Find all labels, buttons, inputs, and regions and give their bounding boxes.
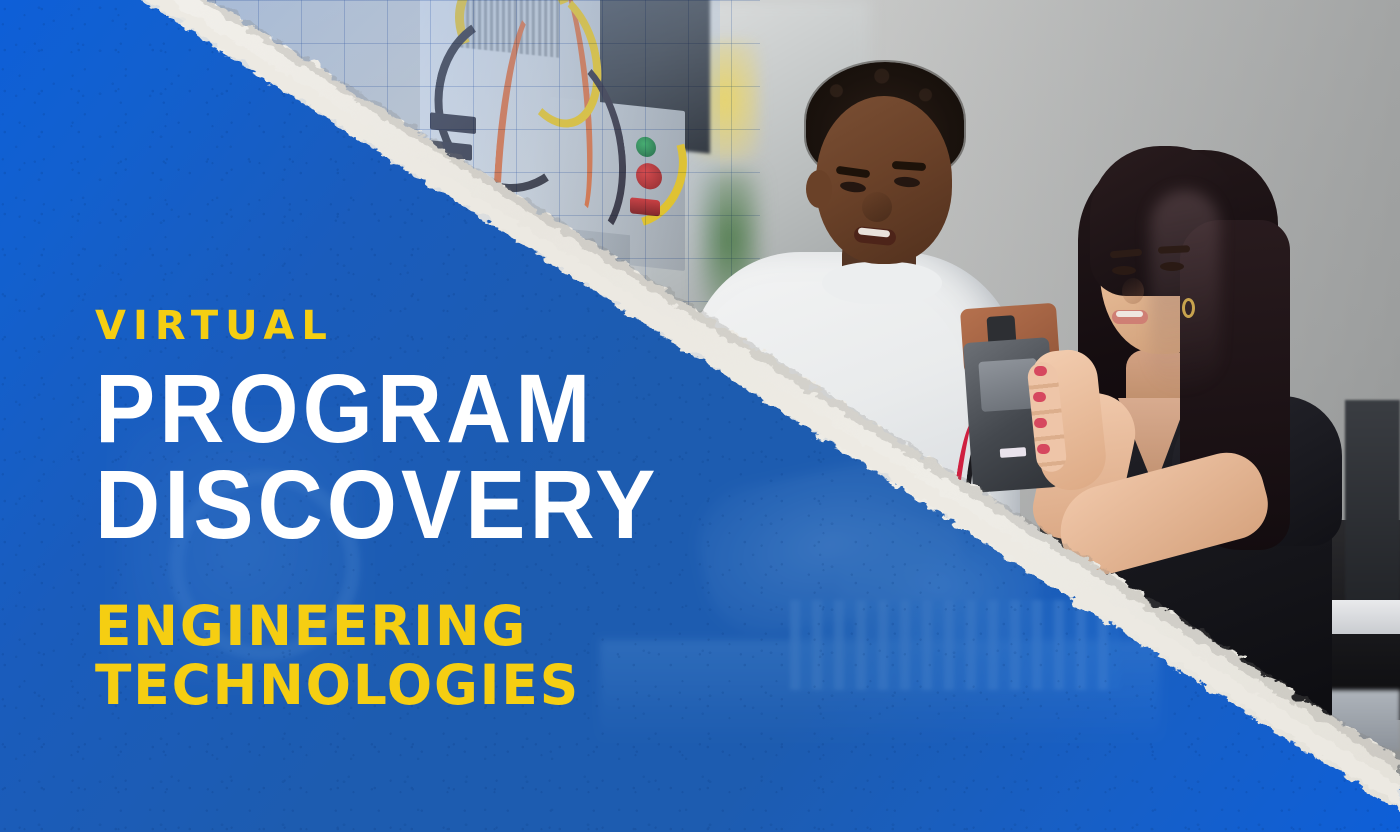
fingernail — [1034, 366, 1047, 376]
headline-block: VIRTUAL PROGRAM DISCOVERY ENGINEERING TE… — [95, 306, 795, 715]
subject-line-2: TECHNOLOGIES — [95, 657, 774, 714]
multimeter-label — [1000, 447, 1027, 458]
female-hair-highlight — [1150, 190, 1220, 390]
female-earring — [1182, 298, 1195, 318]
male-ear — [806, 170, 832, 208]
fingernail — [1034, 418, 1047, 428]
program-discovery-banner: VIRTUAL PROGRAM DISCOVERY ENGINEERING TE… — [0, 0, 1400, 832]
fingernail — [1037, 444, 1050, 454]
headline-line-2: DISCOVERY — [95, 458, 746, 552]
female-teeth — [1116, 311, 1143, 317]
subject-line-1: ENGINEERING — [95, 598, 774, 655]
female-eye — [1112, 266, 1136, 275]
fingernail — [1033, 392, 1046, 402]
female-nose — [1122, 278, 1144, 304]
male-collar — [822, 262, 942, 304]
headline-line-1: PROGRAM — [95, 362, 746, 456]
right-cabinet — [1345, 400, 1400, 630]
eyebrow-virtual: VIRTUAL — [95, 306, 795, 346]
male-nose — [862, 192, 892, 222]
female-eye — [1160, 262, 1184, 271]
